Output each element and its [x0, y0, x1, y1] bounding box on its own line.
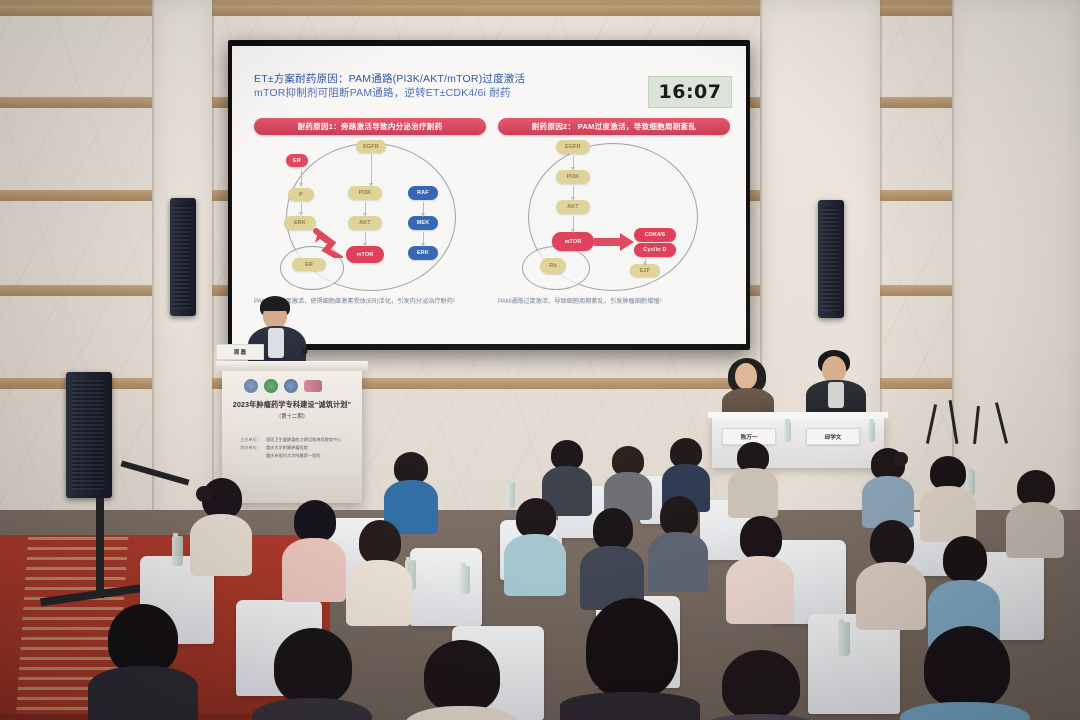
- node-p: P: [288, 188, 314, 201]
- hair: [586, 598, 678, 698]
- speaker-hair-front: [261, 300, 289, 311]
- chair: [410, 548, 482, 626]
- banner-reason-1: 耐药原因1：旁路激活导致内分泌治疗耐药: [254, 118, 486, 135]
- hair-bun: [196, 486, 212, 502]
- podium-logos: [244, 378, 340, 394]
- audience-member: [580, 508, 644, 608]
- wall-speaker-right: [818, 200, 844, 318]
- panel-table-top: [708, 412, 888, 418]
- podium-title: 2023年肿瘤药学专科建设“诚筑计划”: [230, 400, 354, 410]
- podium-credit-value: 国家卫生健康委能力建设和继续教育中心: [266, 436, 341, 444]
- audience-member: [346, 520, 412, 624]
- audience-member: [282, 500, 346, 600]
- red-arrow-right-icon: [594, 233, 636, 251]
- arrow: [301, 203, 302, 213]
- audience-member: [1006, 470, 1064, 556]
- podium-credit-row: 重庆市医科大学附属第一医院: [240, 452, 350, 460]
- arrow: [573, 156, 574, 168]
- conference-photo: ET±方案耐药原因：PAM通路(PI3K/AKT/mTOR)过度激活 mTOR抑…: [0, 0, 1080, 720]
- hair: [424, 640, 500, 712]
- slide-title-line1: ET±方案耐药原因：PAM通路(PI3K/AKT/mTOR)过度激活: [254, 72, 654, 86]
- torso: [920, 486, 976, 542]
- audience-member: [728, 442, 778, 516]
- podium-credit-key: 承办单位：: [240, 444, 261, 452]
- node-pi3k: PI3K: [348, 186, 382, 200]
- screen-surface: ET±方案耐药原因：PAM通路(PI3K/AKT/mTOR)过度激活 mTOR抑…: [232, 46, 746, 344]
- torso: [88, 666, 198, 720]
- node-erk: ERK: [408, 246, 438, 260]
- node-er: ER: [286, 154, 308, 167]
- water-bottle: [172, 536, 183, 566]
- equipment-stand: [96, 498, 104, 598]
- audience-member-front: [900, 626, 1030, 720]
- floor-speaker-left: [66, 372, 112, 498]
- audience-member-front: [700, 650, 820, 720]
- slide-title: ET±方案耐药原因：PAM通路(PI3K/AKT/mTOR)过度激活 mTOR抑…: [254, 72, 654, 100]
- audience-member-front: [88, 604, 198, 720]
- logo-icon-2: [264, 379, 278, 393]
- node-akt: AKT: [556, 200, 590, 214]
- diagram-left: EGFR ER P ERK PI3K RAF AKT MEK mTOR ERK …: [256, 142, 486, 292]
- presentation-slide: ET±方案耐药原因：PAM通路(PI3K/AKT/mTOR)过度激活 mTOR抑…: [232, 46, 746, 344]
- banner-reason-2: 耐药原因2： PAM过度激活，导致细胞周期紊乱: [498, 118, 730, 135]
- node-cdk46: CDK4/6: [634, 228, 676, 242]
- hair: [593, 508, 633, 550]
- podium-credit-value: 重庆大学附属肿瘤医院: [266, 444, 308, 452]
- torso: [404, 706, 520, 720]
- hair: [943, 536, 987, 582]
- torso: [504, 534, 566, 596]
- speaker-shirt: [268, 328, 284, 358]
- hair: [359, 520, 401, 564]
- audience-member: [648, 496, 708, 590]
- torso: [726, 556, 794, 624]
- audience-member-front: [560, 598, 700, 720]
- arrow: [573, 216, 574, 230]
- torso: [648, 532, 708, 592]
- torso: [1006, 502, 1064, 558]
- arrow: [573, 186, 574, 198]
- hair-bun: [894, 452, 908, 466]
- panelist-right-shirt: [828, 382, 844, 408]
- podium-credit-value: 重庆市医科大学附属第一医院: [266, 452, 320, 460]
- node-egfr: EGFR: [556, 140, 590, 154]
- node-mek: MEK: [408, 216, 438, 230]
- podium-credit-key: 主办单位：: [240, 436, 261, 444]
- arrow: [645, 258, 646, 263]
- torso: [560, 692, 700, 720]
- panelist-right-head: [822, 356, 846, 383]
- torso: [900, 702, 1030, 720]
- audience-member-front: [404, 640, 520, 720]
- torso: [346, 560, 412, 626]
- node-mtor: mTOR: [346, 246, 384, 263]
- hair: [930, 456, 966, 490]
- audience-member: [504, 498, 566, 594]
- water-bottle: [838, 622, 850, 656]
- podium-subtitle: （第十二期）: [230, 412, 354, 420]
- caption-right: PAM通路过度激活，导致细胞周期紊乱，引发肿瘤细胞增殖²: [498, 298, 708, 306]
- node-mtor: mTOR: [552, 232, 594, 251]
- water-bottle: [868, 422, 875, 442]
- audience-member: [190, 478, 252, 574]
- audience-member: [920, 456, 976, 540]
- audience-member: [862, 448, 914, 526]
- wall-speaker-left: [170, 198, 196, 316]
- podium-credit-row: 承办单位： 重庆大学附属肿瘤医院: [240, 444, 350, 452]
- podium-top-surface: [216, 361, 368, 371]
- panelist-left-head: [735, 363, 757, 389]
- podium-credit-lines: 主办单位： 国家卫生健康委能力建设和继续教育中心 承办单位： 重庆大学附属肿瘤医…: [240, 436, 350, 460]
- hair: [924, 626, 1010, 708]
- arrow: [371, 154, 372, 184]
- torso: [728, 468, 778, 518]
- torso: [190, 514, 252, 576]
- logo-icon-4: [304, 380, 322, 392]
- torso: [856, 562, 926, 630]
- logo-icon-1: [244, 379, 258, 393]
- logo-icon-3: [284, 379, 298, 393]
- hair: [722, 650, 800, 720]
- hair: [108, 604, 178, 674]
- torso: [252, 698, 372, 720]
- arrow: [301, 170, 302, 184]
- node-er-nucleus: ER: [292, 258, 326, 271]
- hair: [870, 520, 914, 566]
- speaker-nameplate: 周 磊: [216, 344, 264, 360]
- arrow: [423, 232, 424, 244]
- node-egfr: EGFR: [356, 140, 386, 153]
- hair: [740, 516, 782, 560]
- diagram-right: EGFR PI3K AKT mTOR CDK4/6 Cyclin D E2F R…: [498, 142, 728, 292]
- node-rb: Rb: [540, 258, 566, 274]
- arrow: [423, 202, 424, 214]
- audience-member-front: [252, 628, 372, 720]
- water-bottle: [460, 566, 470, 594]
- node-pi3k: PI3K: [556, 170, 590, 184]
- torso: [282, 538, 346, 602]
- podium-credit-row: 主办单位： 国家卫生健康委能力建设和继续教育中心: [240, 436, 350, 444]
- hair: [516, 498, 556, 538]
- red-arrow-icon: [312, 228, 346, 258]
- water-bottle: [784, 422, 791, 442]
- hair: [274, 628, 352, 704]
- arrow: [365, 232, 366, 244]
- node-raf: RAF: [408, 186, 438, 200]
- slide-title-line2: mTOR抑制剂可阻断PAM通路，逆转ET±CDK4/6i 耐药: [254, 86, 654, 100]
- clock-display: 16:07: [648, 76, 732, 108]
- node-akt: AKT: [348, 216, 382, 230]
- audience-member: [856, 520, 926, 628]
- audience-member: [726, 516, 794, 622]
- hair: [660, 496, 698, 536]
- hair: [1017, 470, 1055, 506]
- nameplate-right: 邱学文: [806, 428, 860, 445]
- torso: [700, 714, 820, 720]
- node-cyclin-d: Cyclin D: [634, 243, 676, 257]
- arrow: [365, 202, 366, 214]
- hair: [294, 500, 336, 542]
